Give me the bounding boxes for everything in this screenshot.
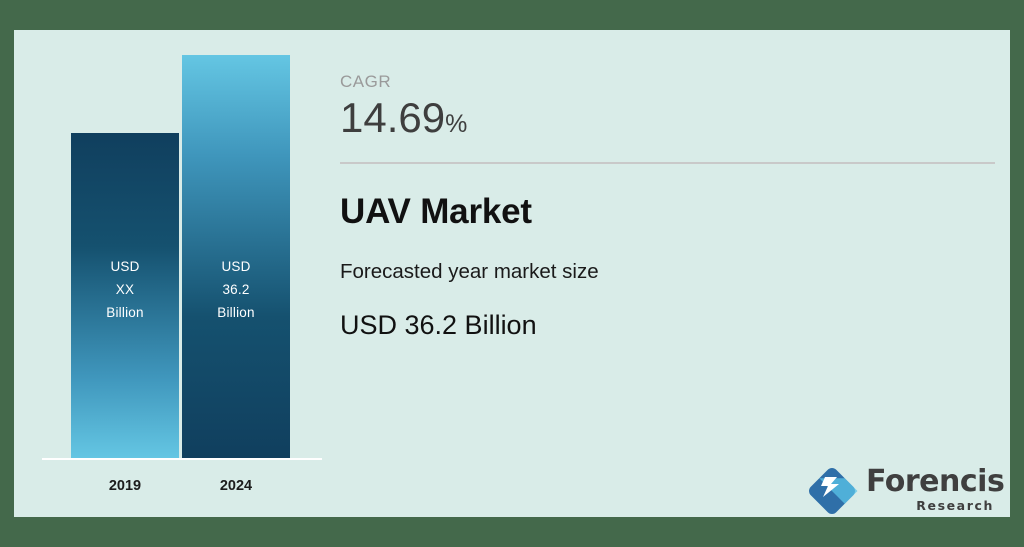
frame-border-top xyxy=(0,0,1024,30)
logo-text-block: Forencis Research xyxy=(866,467,996,513)
bar-2019: USD XX Billion xyxy=(71,133,179,458)
frame-border-bottom xyxy=(0,517,1024,547)
cagr-label: CAGR xyxy=(340,72,995,92)
bar-2019-label-unit: USD xyxy=(71,255,179,278)
cagr-value-row: 14.69% xyxy=(340,94,995,148)
cagr-value: 14.69 xyxy=(340,94,445,141)
bar-2024-label-scale: Billion xyxy=(182,301,290,324)
brand-logo: Forencis Research xyxy=(804,455,999,515)
horizontal-divider xyxy=(340,162,995,164)
frame-border-left xyxy=(0,0,14,547)
bar-2024-label-unit: USD xyxy=(182,255,290,278)
bar-2024: USD 36.2 Billion xyxy=(182,55,290,458)
x-axis-line xyxy=(42,458,322,460)
forencis-diamond-icon xyxy=(804,463,860,519)
info-panel: CAGR 14.69% UAV Market Forecasted year m… xyxy=(340,72,995,341)
bar-2024-label-value: 36.2 xyxy=(182,278,290,301)
subtitle-text: Forecasted year market size xyxy=(340,260,995,284)
content-canvas: USD XX Billion USD 36.2 Billion 2019 202… xyxy=(14,30,1010,517)
market-size-value: USD 36.2 Billion xyxy=(340,310,995,341)
bar-2019-label-value: XX xyxy=(71,278,179,301)
frame-border-right xyxy=(1010,0,1024,547)
logo-name: Forencis xyxy=(866,467,996,497)
bar-chart: USD XX Billion USD 36.2 Billion 2019 202… xyxy=(14,30,344,517)
page-title: UAV Market xyxy=(340,192,995,232)
x-axis-tick-labels: 2019 2024 xyxy=(42,478,322,504)
x-tick-2019: 2019 xyxy=(71,478,179,494)
cagr-percent-symbol: % xyxy=(445,110,467,138)
infographic-page: USD XX Billion USD 36.2 Billion 2019 202… xyxy=(0,0,1024,547)
bar-2019-label-scale: Billion xyxy=(71,301,179,324)
logo-subtitle: Research xyxy=(866,498,996,513)
x-tick-2024: 2024 xyxy=(182,478,290,494)
